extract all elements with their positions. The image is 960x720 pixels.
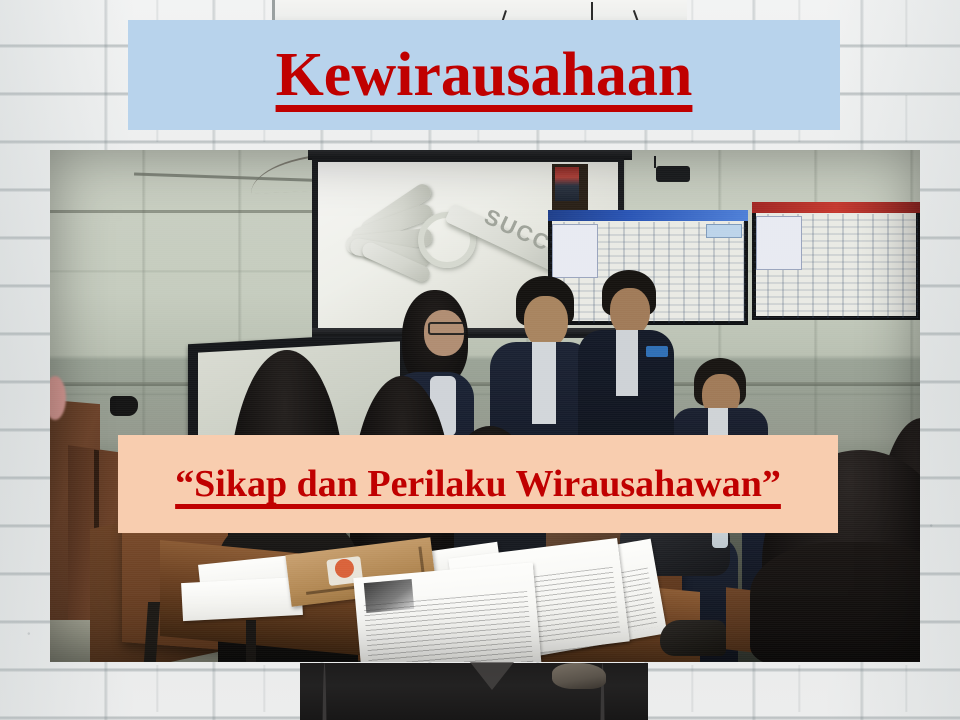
subtitle-banner: “Sikap dan Perilaku Wirausahawan” — [118, 435, 838, 533]
furniture-seam-left — [322, 663, 327, 720]
board-header-right — [752, 202, 920, 213]
furniture-notch — [470, 662, 514, 690]
board-header-left — [548, 210, 748, 221]
black-clamp-object — [110, 396, 138, 416]
presenter-boy2-badge — [646, 346, 668, 357]
presenter-girl-glasses — [428, 322, 466, 335]
presentation-slide: SUCCESS — [0, 0, 960, 720]
ceiling-fixture — [656, 166, 690, 182]
presenter-boy2-face — [610, 288, 650, 336]
presenter-boy2-shirt — [616, 330, 638, 396]
paper-stack-1 — [353, 562, 542, 662]
classroom-photo: SUCCESS — [50, 150, 920, 662]
student-shoe — [660, 620, 726, 656]
front-desk-leg-2 — [246, 620, 256, 662]
slide-subtitle: “Sikap dan Perilaku Wirausahawan” — [175, 465, 781, 503]
board-side-tag-left — [552, 224, 598, 278]
projector-screen-bottom-bar — [312, 328, 624, 336]
presenter-boy1-face — [524, 296, 568, 348]
board-side-tag-right — [756, 216, 802, 270]
background-top-panel — [272, 0, 687, 22]
paper-sheet-2 — [181, 577, 303, 621]
title-banner: Kewirausahaan — [128, 20, 840, 130]
bulletin-board-right — [752, 202, 920, 320]
foreground-girl-hair-lower — [750, 542, 920, 662]
presenter-boy1-shirt — [532, 342, 556, 424]
portrait-image — [555, 167, 579, 201]
background-bottom-furniture — [300, 663, 648, 720]
hand-shape — [552, 663, 606, 689]
wall-chair-rail — [50, 382, 920, 386]
board-small-tag-left — [706, 224, 742, 238]
slide-title: Kewirausahaan — [276, 44, 693, 106]
panel-mark-2 — [591, 2, 593, 22]
